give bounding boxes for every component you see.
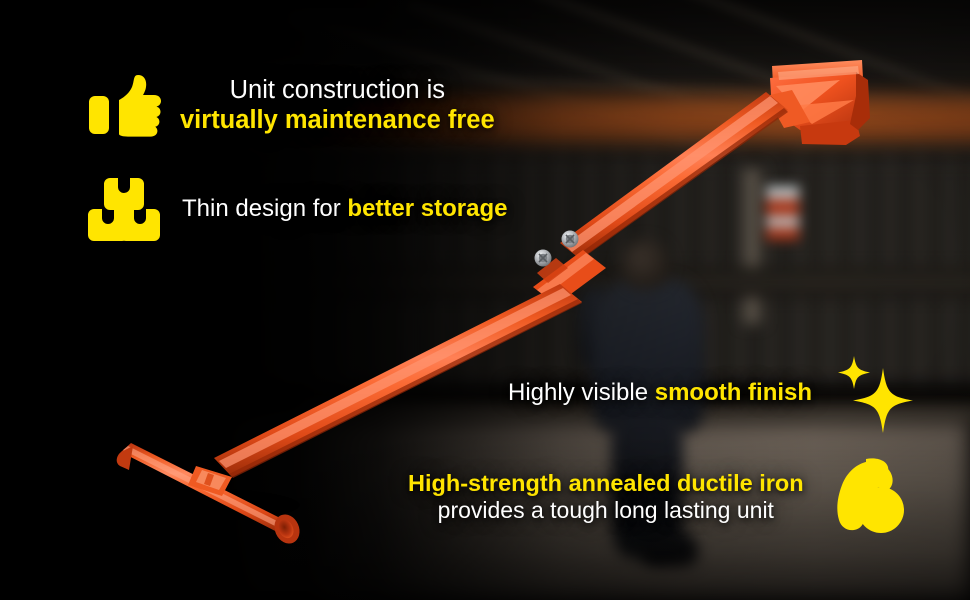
feature-storage: Thin design for better storage — [88, 176, 507, 242]
feature-finish-text: Highly visible smooth finish — [508, 379, 812, 407]
feature-strength-text: High-strength annealed ductile iron prov… — [408, 470, 804, 524]
feature-strength-line1: High-strength annealed ductile iron — [408, 470, 804, 497]
thumbs-up-icon — [88, 74, 162, 138]
feature-storage-text: Thin design for better storage — [182, 195, 507, 223]
boxes-icon — [88, 176, 160, 242]
feature-maintenance: Unit construction is virtually maintenan… — [88, 74, 495, 138]
feature-strength: High-strength annealed ductile iron prov… — [408, 456, 908, 538]
sparkle-icon — [834, 352, 914, 434]
infographic-canvas: Unit construction is virtually maintenan… — [0, 0, 970, 600]
feature-strength-line2: provides a tough long lasting unit — [408, 497, 804, 524]
feature-finish-emphasis: smooth finish — [655, 379, 812, 406]
feature-finish-prefix: Highly visible — [508, 379, 655, 406]
feature-maintenance-line2: virtually maintenance free — [180, 106, 495, 136]
feature-storage-emphasis: better storage — [347, 195, 507, 222]
feature-maintenance-text: Unit construction is virtually maintenan… — [180, 76, 495, 135]
feature-maintenance-line1: Unit construction is — [180, 76, 495, 106]
feature-storage-prefix: Thin design for — [182, 195, 347, 222]
feature-finish: Highly visible smooth finish — [508, 352, 914, 434]
muscle-icon — [830, 456, 908, 538]
